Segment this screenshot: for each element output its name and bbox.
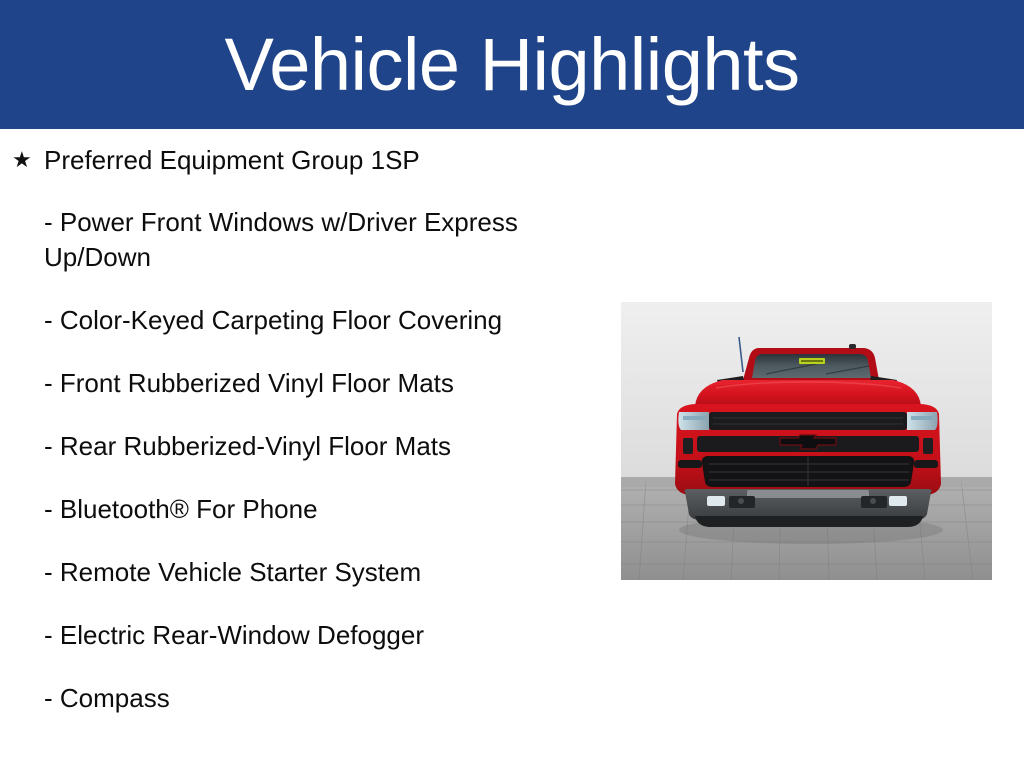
list-item: - Remote Vehicle Starter System	[44, 555, 564, 590]
vehicle-photo	[621, 302, 992, 580]
equipment-group-label: Preferred Equipment Group 1SP	[44, 143, 420, 177]
list-item: - Electric Rear-Window Defogger	[44, 618, 564, 653]
list-item: - Compass	[44, 681, 564, 716]
content-area: ★ Preferred Equipment Group 1SP - Power …	[0, 129, 1024, 768]
highlights-list: ★ Preferred Equipment Group 1SP - Power …	[0, 143, 600, 716]
page-title: Vehicle Highlights	[224, 28, 799, 102]
vehicle-photo-illustration	[621, 302, 992, 580]
list-item: - Rear Rubberized-Vinyl Floor Mats	[44, 429, 564, 464]
star-bullet-icon: ★	[10, 143, 44, 177]
slide-root: Vehicle Highlights ★ Preferred Equipment…	[0, 0, 1024, 768]
list-item: - Color-Keyed Carpeting Floor Covering	[44, 303, 564, 338]
list-item: - Power Front Windows w/Driver Express U…	[44, 205, 564, 275]
header-banner: Vehicle Highlights	[0, 0, 1024, 129]
feature-group-header: ★ Preferred Equipment Group 1SP	[0, 143, 600, 177]
list-item: - Bluetooth® For Phone	[44, 492, 564, 527]
list-item: - Front Rubberized Vinyl Floor Mats	[44, 366, 564, 401]
